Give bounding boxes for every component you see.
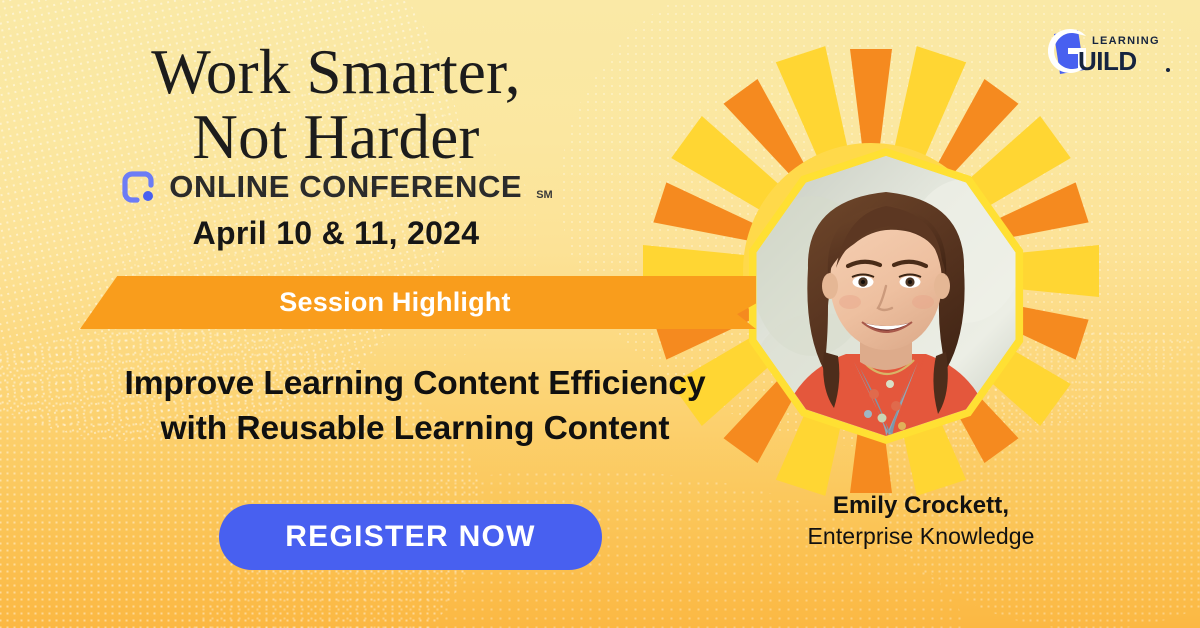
conference-lockup: ONLINE CONFERENCE SM (0, 168, 672, 206)
headline-line-2: Not Harder (0, 105, 672, 170)
session-title: Improve Learning Content Efficiency with… (20, 362, 810, 451)
speaker-organization: Enterprise Knowledge (756, 521, 1086, 552)
page-title: Work Smarter, Not Harder (0, 40, 672, 170)
speaker-credit: Emily Crockett, Enterprise Knowledge (756, 490, 1086, 552)
speaker-name: Emily Crockett, (756, 490, 1086, 521)
headline-line-1: Work Smarter, (0, 40, 672, 105)
online-conference-mark-icon (119, 168, 157, 206)
conference-dates: April 10 & 11, 2024 (0, 215, 672, 252)
svg-text:UILD: UILD (1078, 46, 1137, 76)
conference-name: ONLINE CONFERENCE (169, 169, 522, 205)
session-title-line-2: with Reusable Learning Content (20, 407, 810, 452)
session-highlight-label: Session Highlight (80, 276, 756, 329)
service-mark: SM (536, 189, 553, 206)
session-title-line-1: Improve Learning Content Efficiency (20, 362, 810, 407)
promo-banner: LEARNING UILD Work Smarter, Not Harder O… (0, 0, 1200, 628)
learning-guild-logo-icon: LEARNING UILD (1048, 28, 1178, 78)
register-now-button[interactable]: REGISTER NOW (219, 504, 602, 570)
